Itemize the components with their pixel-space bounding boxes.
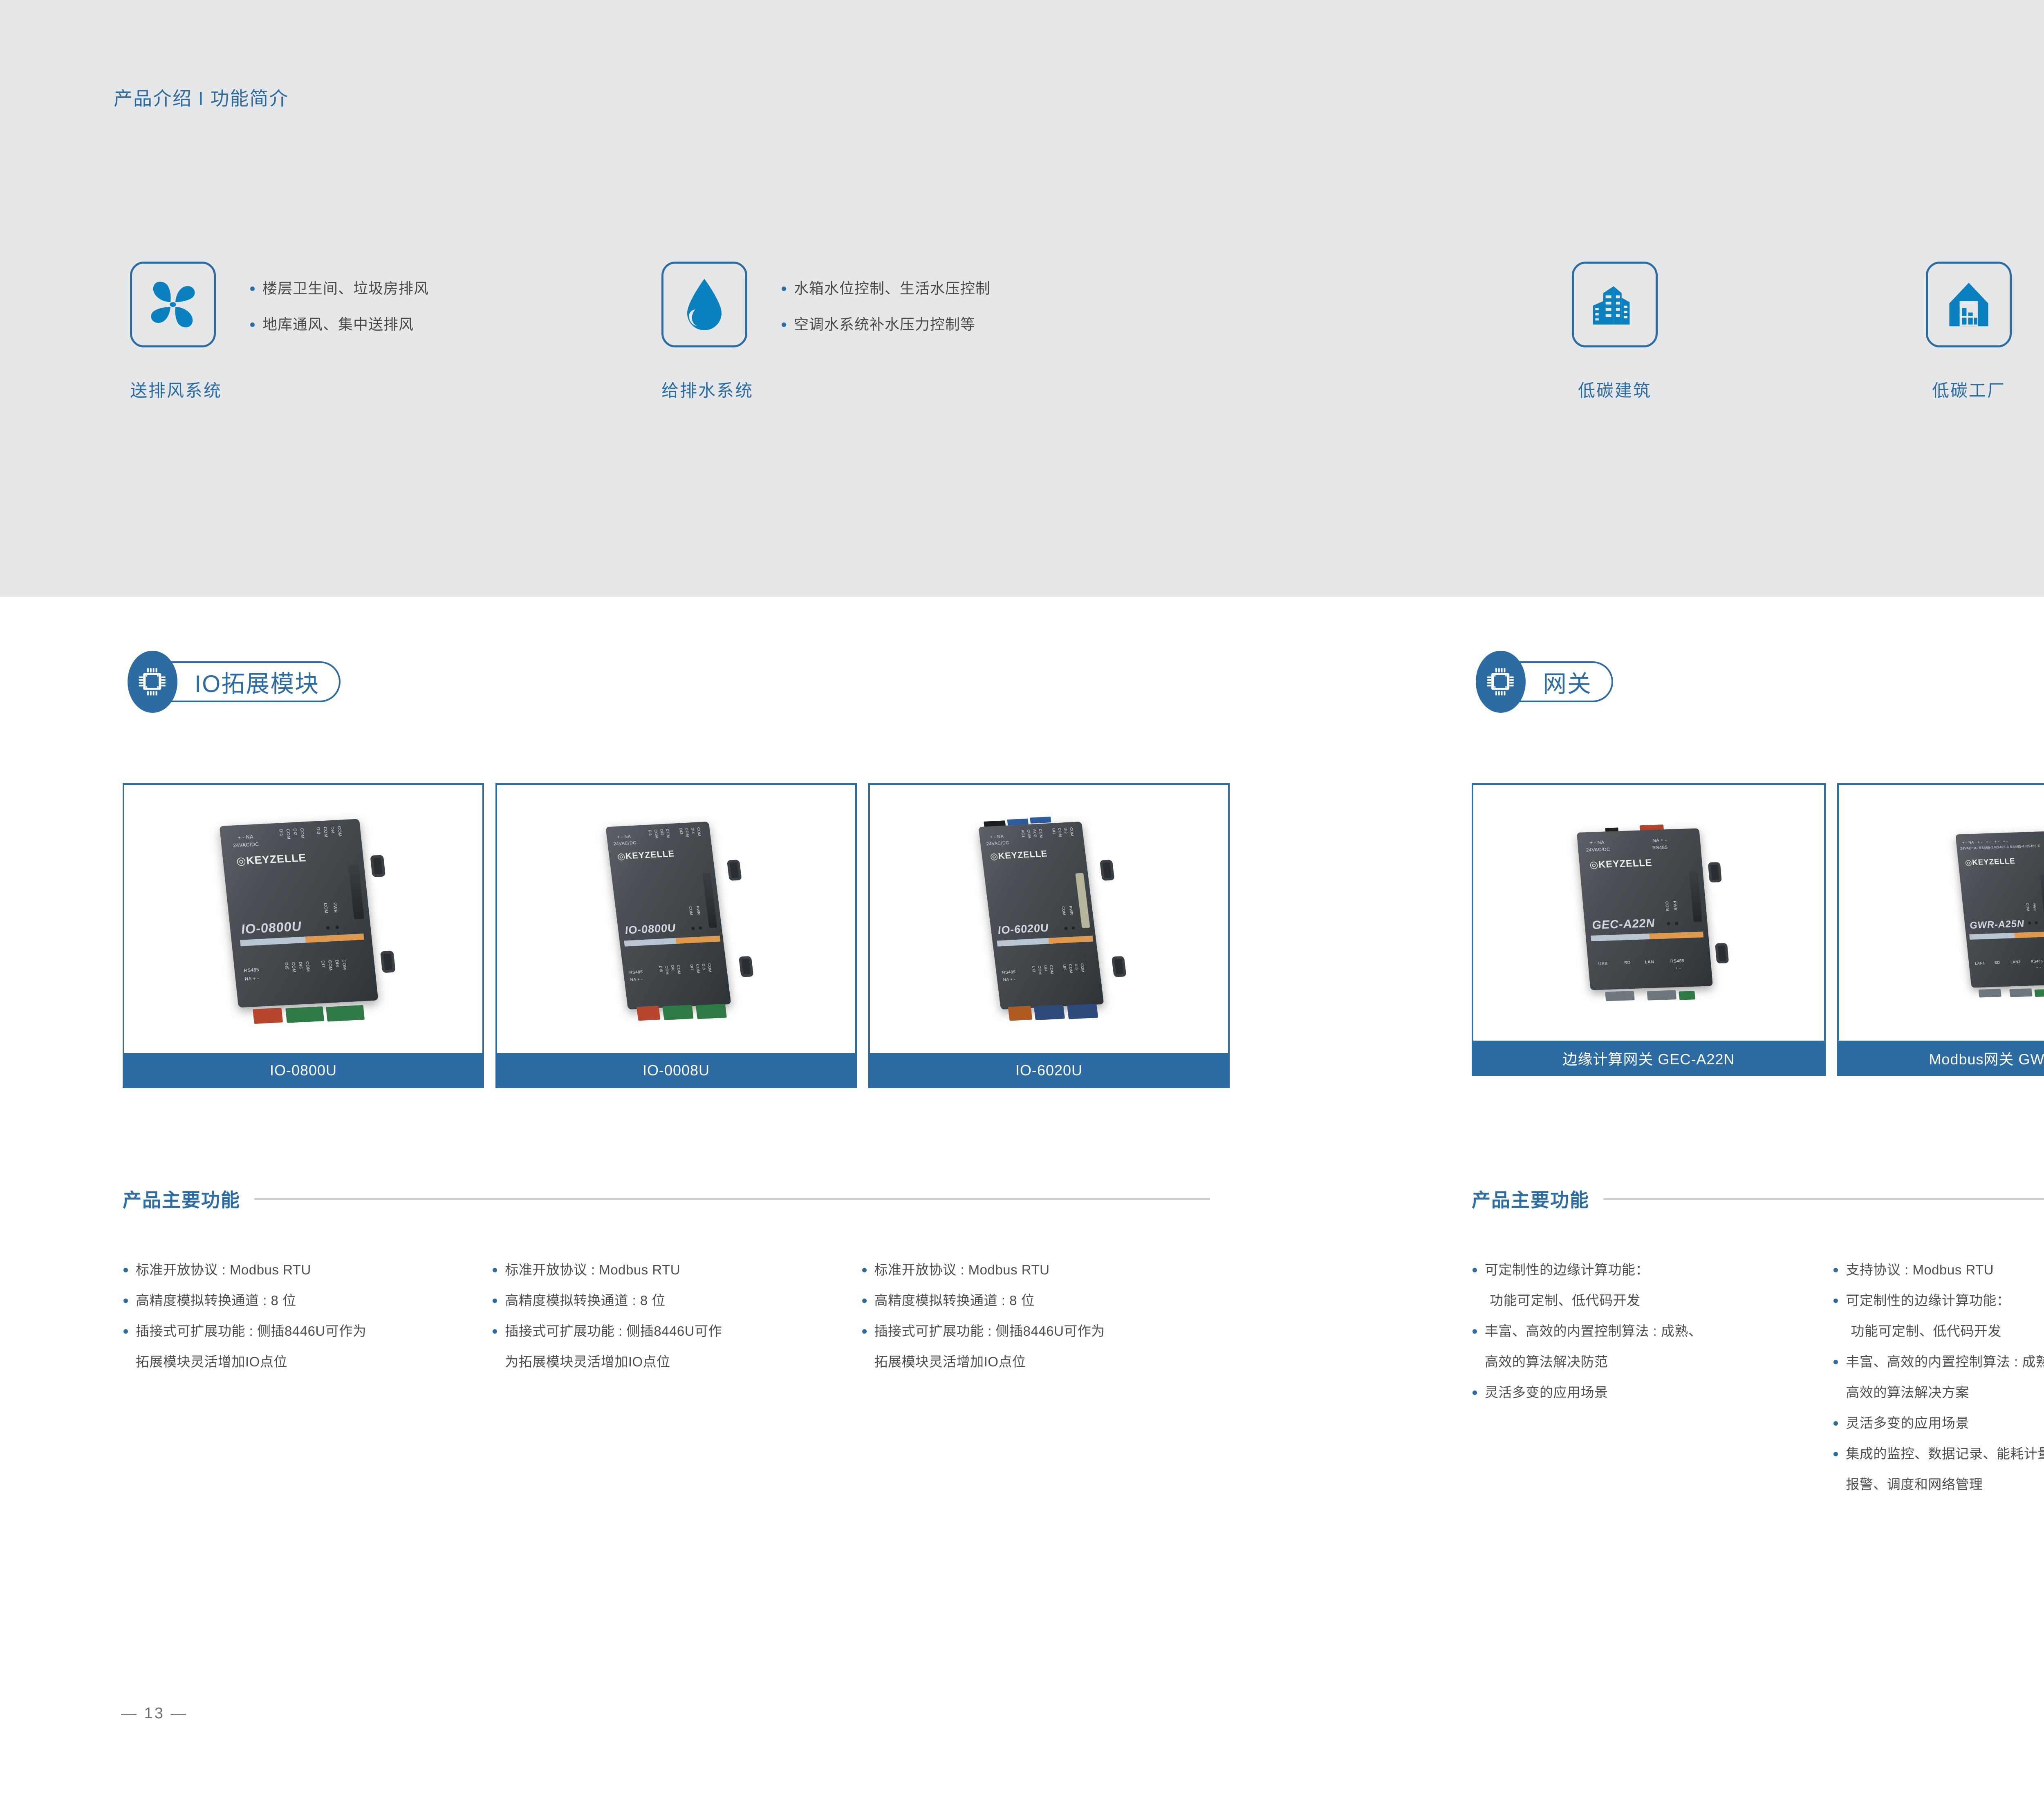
section-title: IO拓展模块 <box>195 665 319 699</box>
feature-item: 高精度模拟转换通道 : 8 位 <box>123 1294 480 1307</box>
feature-text: 灵活多变的应用场景 <box>1485 1385 1608 1400</box>
scenario-block-water: 给排水系统 水箱水位控制、生活水压控制 空调水系统补水压力控制等 <box>661 262 753 402</box>
product-image: + - NA 24VAC/DC AO1 COM AO2 COM UI1 COM … <box>868 783 1230 1053</box>
features-heading-io: 产品主要功能 <box>123 1185 1210 1212</box>
product-image: + - NA 24VAC/DC NA + - RS485 ◎KEYZELLE G… <box>1472 783 1826 1041</box>
feature-item: 标准开放协议 : Modbus RTU <box>492 1263 849 1276</box>
product-card[interactable]: + - NA + - + - + - + - 24VAC/DC RS485-2 … <box>1837 783 2044 1076</box>
product-card[interactable]: + - NA 24VAC/DC DI1 COM DI2 COM DI3 COM … <box>495 783 857 1088</box>
feature-item: 插接式可扩展功能 : 侧插8446U可作为 拓展模块灵活增加IO点位 <box>123 1324 480 1368</box>
feature-item: 可定制性的边缘计算功能： 功能可定制、低代码开发 <box>1833 1294 2044 1338</box>
product-label: Modbus网关 GWR-A25N <box>1837 1041 2044 1076</box>
office-buildings-icon-frame <box>1572 262 1658 347</box>
feature-column: 可定制性的边缘计算功能： 功能可定制、低代码开发 丰富、高效的内置控制算法 : … <box>1472 1263 1820 1508</box>
feature-text-cont: 为拓展模块灵活增加IO点位 <box>505 1355 849 1368</box>
feature-text: 丰富、高效的内置控制算法 : 成熟、 <box>1485 1323 1702 1339</box>
feature-text: 高精度模拟转换通道 : 8 位 <box>136 1293 296 1308</box>
page-number-left: — 13 — <box>121 1705 188 1722</box>
scenario-caption: 送排风系统 <box>130 377 222 402</box>
section-header-io-modules: IO拓展模块 <box>128 651 341 713</box>
feature-text-cont: 报警、调度和网络管理 <box>1846 1478 2044 1491</box>
feature-text-cont: 功能可定制、低代码开发 <box>1846 1324 2044 1338</box>
scenario-bullet: 地库通风、集中送排风 <box>249 317 429 332</box>
product-label: IO-6020U <box>868 1053 1230 1088</box>
fan-icon <box>142 274 204 335</box>
water-drop-icon <box>674 274 735 335</box>
feature-text: 可定制性的边缘计算功能： <box>1846 1293 2010 1308</box>
feature-text: 插接式可扩展功能 : 侧插8446U可作为 <box>136 1323 366 1339</box>
feature-item: 灵活多变的应用场景 <box>1833 1416 2044 1430</box>
feature-text-cont: 高效的算法解决方案 <box>1846 1386 2044 1399</box>
fan-icon-frame <box>130 262 216 347</box>
low-carbon-caption: 低碳工厂 <box>1907 377 2030 402</box>
product-image: + - NA 24VAC/DC DI1 COM DI2 COM DI3 COM … <box>495 783 857 1053</box>
feature-item: 可定制性的边缘计算功能： 功能可定制、低代码开发 <box>1472 1263 1820 1307</box>
features-heading-text: 产品主要功能 <box>1472 1185 1589 1212</box>
low-carbon-block-building: 低碳建筑 <box>1553 262 1676 402</box>
feature-column: 标准开放协议 : Modbus RTU 高精度模拟转换通道 : 8 位 插接式可… <box>492 1263 849 1386</box>
feature-item: 插接式可扩展功能 : 侧插8446U可作 为拓展模块灵活增加IO点位 <box>492 1324 849 1368</box>
features-heading-gateways: 产品主要功能 <box>1472 1185 2044 1212</box>
feature-text-cont: 拓展模块灵活增加IO点位 <box>874 1355 1218 1368</box>
brochure-spread: 产品介绍 I 功能简介 产品介绍 I 功能简介 送排风系统 楼层卫生间、垃圾房排… <box>0 0 2044 1798</box>
section-title: 网关 <box>1543 665 1592 699</box>
feature-text: 标准开放协议 : Modbus RTU <box>874 1262 1050 1277</box>
feature-text: 标准开放协议 : Modbus RTU <box>505 1262 680 1277</box>
product-card[interactable]: + - NA 24VAC/DC AO1 COM AO2 COM UI1 COM … <box>868 783 1230 1088</box>
microchip-icon <box>1485 666 1516 697</box>
feature-text-cont: 高效的算法解决防范 <box>1485 1355 1820 1368</box>
running-head-left: 产品介绍 I 功能简介 <box>114 84 289 111</box>
product-card-row-gateways: + - NA 24VAC/DC NA + - RS485 ◎KEYZELLE G… <box>1472 783 2044 1076</box>
feature-item: 标准开放协议 : Modbus RTU <box>123 1263 480 1276</box>
feature-text: 集成的监控、数据记录、能耗计量、 <box>1846 1446 2044 1461</box>
heading-rule <box>1603 1198 2044 1200</box>
feature-text: 高精度模拟转换通道 : 8 位 <box>874 1293 1035 1308</box>
product-image: + - NA + - + - + - + - 24VAC/DC RS485-2 … <box>1837 783 2044 1041</box>
feature-column: 支持协议 : Modbus RTU 可定制性的边缘计算功能： 功能可定制、低代码… <box>1833 1263 2044 1508</box>
product-card[interactable]: + - NA 24VAC/DC NA + - RS485 ◎KEYZELLE G… <box>1472 783 1826 1076</box>
scenario-bullet-list: 水箱水位控制、生活水压控制 空调水系统补水压力控制等 <box>780 281 991 353</box>
feature-text: 插接式可扩展功能 : 侧插8446U可作为 <box>874 1323 1105 1339</box>
feature-text: 高精度模拟转换通道 : 8 位 <box>505 1293 666 1308</box>
feature-item: 丰富、高效的内置控制算法 : 成熟、 高效的算法解决防范 <box>1472 1324 1820 1368</box>
feature-text-cont: 拓展模块灵活增加IO点位 <box>136 1355 480 1368</box>
feature-columns-gateways: 可定制性的边缘计算功能： 功能可定制、低代码开发 丰富、高效的内置控制算法 : … <box>1472 1263 2044 1508</box>
feature-item: 高精度模拟转换通道 : 8 位 <box>492 1294 849 1307</box>
factory-icon <box>1940 276 1997 333</box>
product-label: 边缘计算网关 GEC-A22N <box>1472 1041 1826 1076</box>
feature-text: 可定制性的边缘计算功能： <box>1485 1262 1649 1277</box>
feature-text: 灵活多变的应用场景 <box>1846 1415 1969 1431</box>
feature-text: 标准开放协议 : Modbus RTU <box>136 1262 311 1277</box>
office-buildings-icon <box>1586 276 1643 333</box>
feature-text-cont: 功能可定制、低代码开发 <box>1485 1294 1820 1307</box>
microchip-icon-badge <box>1476 651 1526 713</box>
microchip-icon-badge <box>128 651 177 713</box>
low-carbon-caption: 低碳建筑 <box>1553 377 1676 402</box>
scenario-bullet-list: 楼层卫生间、垃圾房排风 地库通风、集中送排风 <box>249 281 429 353</box>
factory-icon-frame <box>1926 262 2012 347</box>
feature-text: 插接式可扩展功能 : 侧插8446U可作 <box>505 1323 722 1339</box>
feature-item: 标准开放协议 : Modbus RTU <box>861 1263 1218 1276</box>
scenario-bullet: 楼层卫生间、垃圾房排风 <box>249 281 429 296</box>
scenario-block-ventilation: 送排风系统 楼层卫生间、垃圾房排风 地库通风、集中送排风 <box>130 262 222 402</box>
feature-item: 支持协议 : Modbus RTU <box>1833 1263 2044 1276</box>
features-heading-text: 产品主要功能 <box>123 1185 240 1212</box>
section-header-gateways: 网关 <box>1476 651 1613 713</box>
low-carbon-block-factory: 低碳工厂 <box>1907 262 2030 402</box>
scenario-caption: 给排水系统 <box>661 377 753 402</box>
product-image: + - NA 24VAC/DC DI1 COM DI2 COM DI3 COM … <box>123 783 484 1053</box>
feature-column: 标准开放协议 : Modbus RTU 高精度模拟转换通道 : 8 位 插接式可… <box>123 1263 480 1386</box>
feature-item: 灵活多变的应用场景 <box>1472 1386 1820 1399</box>
feature-item: 高精度模拟转换通道 : 8 位 <box>861 1294 1218 1307</box>
feature-column: 标准开放协议 : Modbus RTU 高精度模拟转换通道 : 8 位 插接式可… <box>861 1263 1218 1386</box>
water-drop-icon-frame <box>661 262 747 347</box>
product-card[interactable]: + - NA 24VAC/DC DI1 COM DI2 COM DI3 COM … <box>123 783 484 1088</box>
feature-text: 支持协议 : Modbus RTU <box>1846 1262 1994 1277</box>
microchip-icon <box>137 666 168 697</box>
heading-rule <box>254 1198 1210 1200</box>
product-label: IO-0800U <box>123 1053 484 1088</box>
feature-item: 集成的监控、数据记录、能耗计量、 报警、调度和网络管理 <box>1833 1447 2044 1491</box>
feature-item: 丰富、高效的内置控制算法 : 成熟、 高效的算法解决方案 <box>1833 1355 2044 1399</box>
feature-columns-io: 标准开放协议 : Modbus RTU 高精度模拟转换通道 : 8 位 插接式可… <box>123 1263 1218 1386</box>
feature-text: 丰富、高效的内置控制算法 : 成熟、 <box>1846 1354 2044 1369</box>
scenario-bullet: 水箱水位控制、生活水压控制 <box>780 281 991 296</box>
product-card-row-io: + - NA 24VAC/DC DI1 COM DI2 COM DI3 COM … <box>123 783 1230 1088</box>
product-label: IO-0008U <box>495 1053 857 1088</box>
feature-item: 插接式可扩展功能 : 侧插8446U可作为 拓展模块灵活增加IO点位 <box>861 1324 1218 1368</box>
scenario-bullet: 空调水系统补水压力控制等 <box>780 317 991 332</box>
